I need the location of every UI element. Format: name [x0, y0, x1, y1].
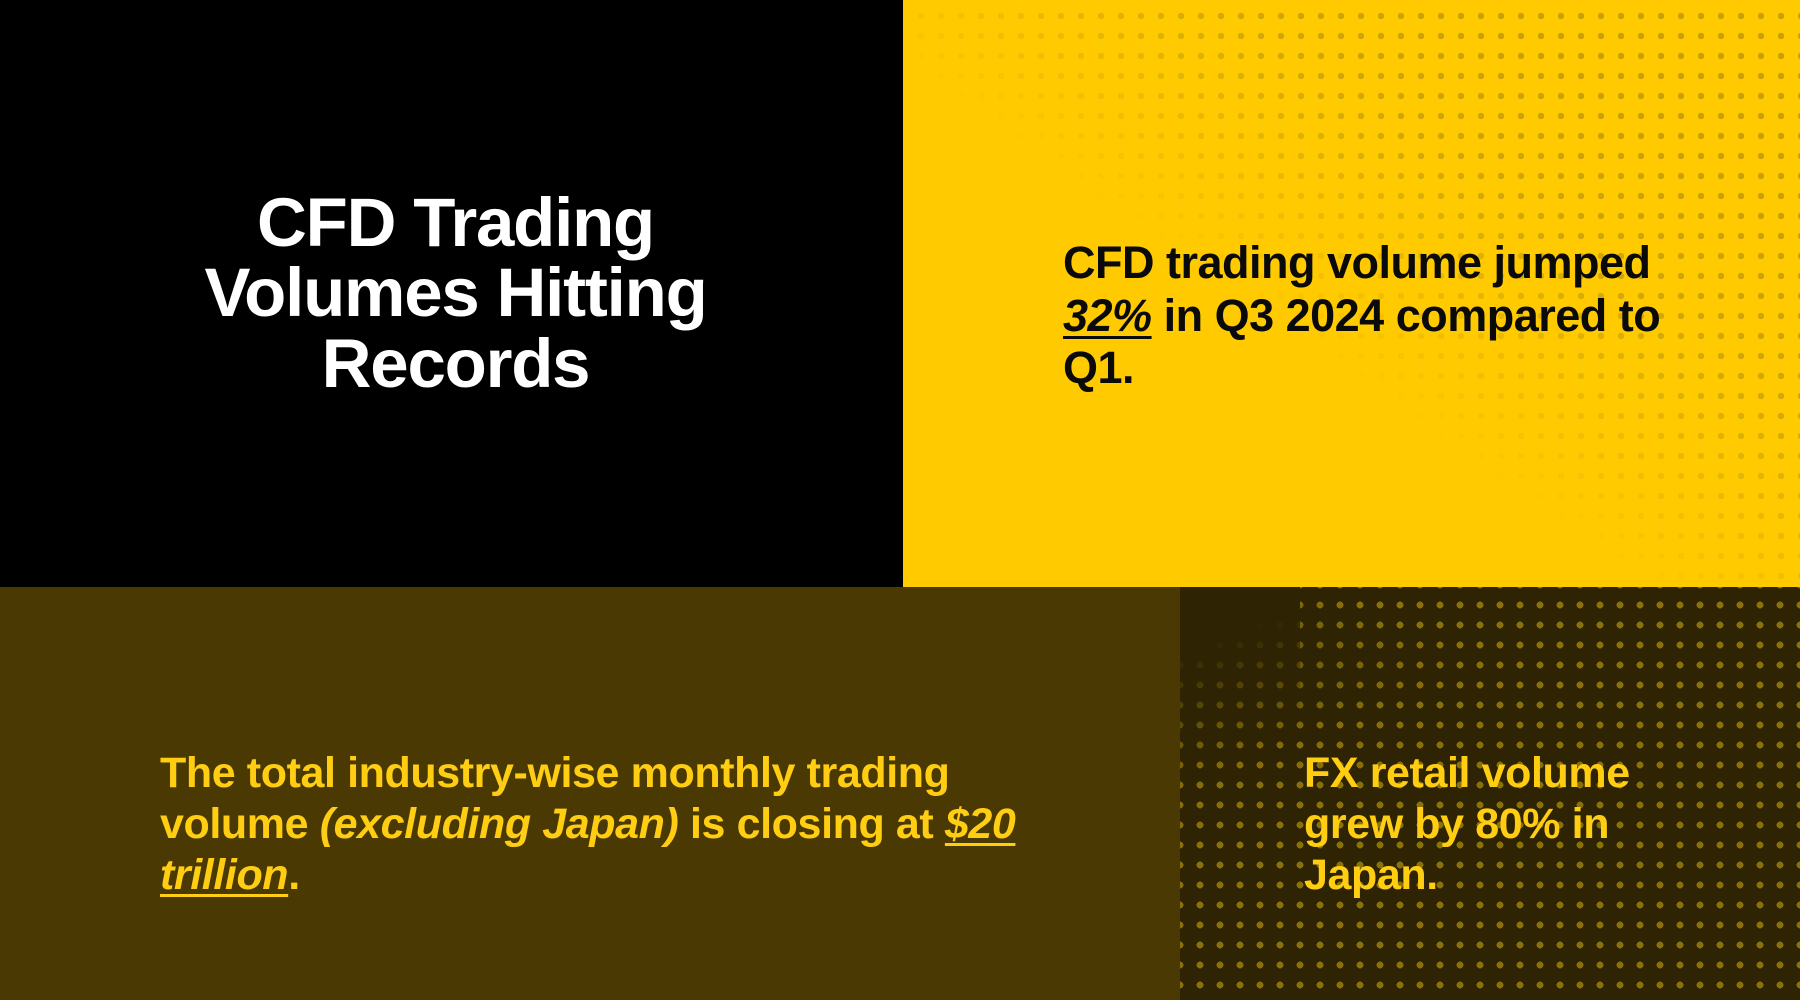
stat-panel-q3-growth: CFD trading volume jumped 32% in Q3 2024…	[903, 0, 1800, 587]
stat-volume-text: The total industry-wise monthly trading …	[160, 748, 1030, 901]
infographic-canvas: CFD Trading Volumes Hitting Records CFD …	[0, 0, 1800, 1000]
stat-q3-tail: in Q3 2024 compared to Q1.	[1063, 290, 1660, 394]
stat-panel-fx-japan: FX retail volume grew by 80% in Japan.	[1180, 587, 1800, 1000]
stat-q3-lead: CFD trading volume jumped	[1063, 237, 1651, 288]
headline-panel: CFD Trading Volumes Hitting Records	[0, 0, 903, 587]
stat-volume-tail: .	[288, 851, 300, 899]
stat-q3-highlight: 32%	[1063, 290, 1152, 341]
stat-panel-monthly-volume: The total industry-wise monthly trading …	[0, 587, 1180, 1000]
stat-volume-middle: is closing at	[678, 800, 944, 848]
stat-fx-text: FX retail volume grew by 80% in Japan.	[1304, 748, 1704, 901]
page-title: CFD Trading Volumes Hitting Records	[176, 188, 736, 399]
stat-q3-text: CFD trading volume jumped 32% in Q3 2024…	[1063, 237, 1663, 395]
stat-volume-parenthetical: (excluding Japan)	[320, 800, 679, 848]
